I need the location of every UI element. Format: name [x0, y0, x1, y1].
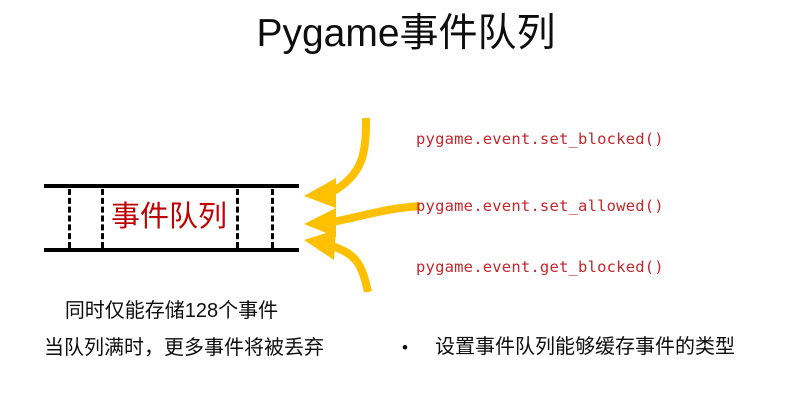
code-line-set-blocked: pygame.event.set_blocked() — [416, 129, 664, 149]
arrow-to-set-blocked — [304, 118, 366, 208]
queue-divider — [68, 189, 71, 248]
arrow-to-get-blocked — [304, 230, 368, 292]
bullet-note: • 设置事件队列能够缓存事件的类型 — [402, 333, 735, 362]
queue-top-border — [44, 184, 299, 188]
queue-capacity-caption: 同时仅能存储128个事件 — [44, 297, 299, 325]
queue-label: 事件队列 — [102, 198, 236, 236]
event-queue-diagram: 事件队列 — [44, 184, 299, 252]
code-line-set-allowed: pygame.event.set_allowed() — [416, 196, 664, 216]
code-line-get-blocked: pygame.event.get_blocked() — [416, 257, 664, 277]
arrow-to-set-allowed — [304, 206, 420, 237]
queue-divider — [236, 189, 239, 248]
queue-overflow-caption: 当队列满时，更多事件将被丢弃 — [44, 334, 299, 362]
queue-bottom-border — [44, 248, 299, 252]
arrow-group — [296, 112, 421, 292]
queue-divider — [271, 189, 274, 248]
bullet-note-label: 设置事件队列能够缓存事件的类型 — [435, 333, 735, 361]
page-title: Pygame事件队列 — [0, 11, 812, 57]
bullet-marker-icon: • — [402, 334, 435, 362]
